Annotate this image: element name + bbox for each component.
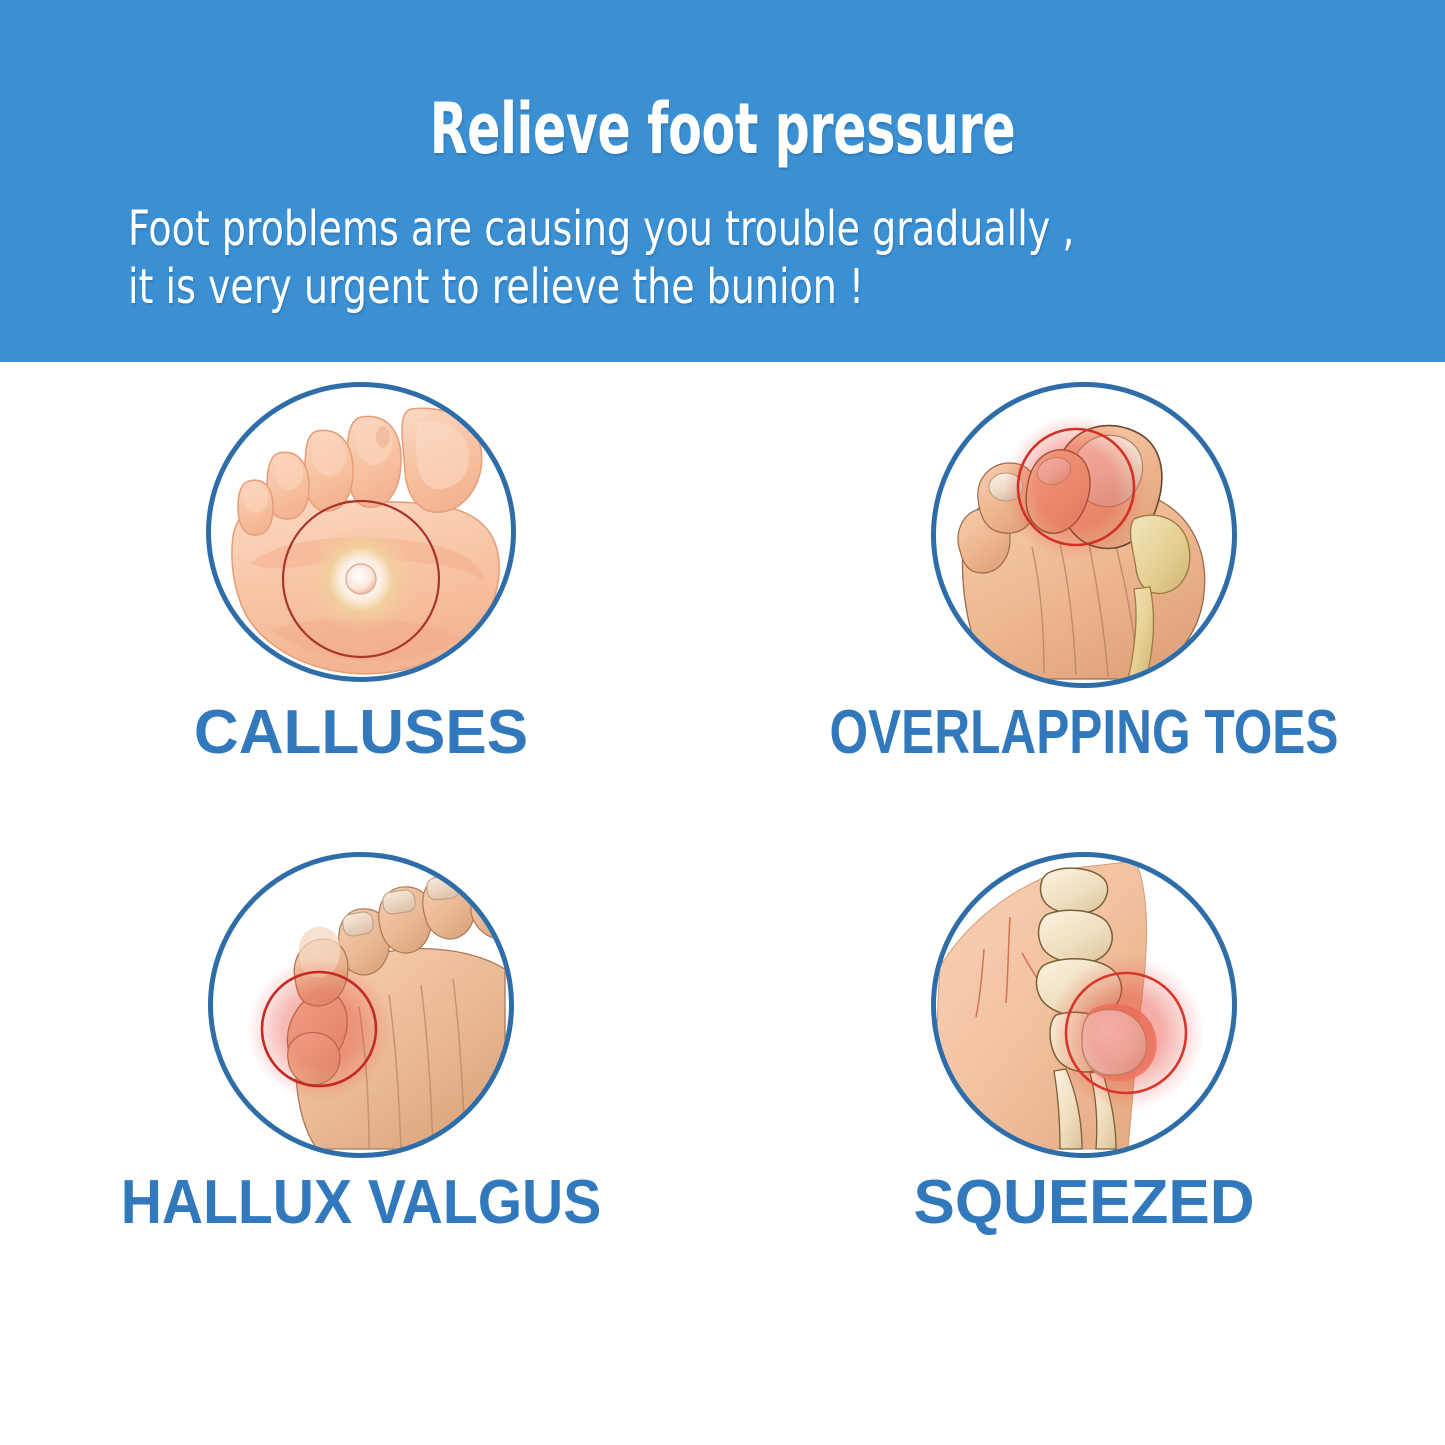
condition-label-squeezed: SQUEEZED [723, 1170, 1445, 1236]
condition-card-squeezed: SQUEEZED [723, 852, 1445, 1307]
condition-image-frame [206, 382, 516, 682]
foot-sole-callus-icon [211, 387, 511, 677]
condition-image-frame [931, 852, 1237, 1158]
condition-label-overlapping-toes: OVERLAPPING TOES [795, 700, 1373, 766]
condition-card-calluses: CALLUSES [0, 382, 722, 837]
overlapping-toes-icon [936, 387, 1232, 683]
condition-image-frame [931, 382, 1237, 688]
hallux-valgus-icon [213, 857, 509, 1153]
condition-image-frame [208, 852, 514, 1158]
subtitle-line-1: Foot problems are causing you trouble gr… [128, 200, 1210, 258]
squeezed-joint-bone-icon [936, 857, 1232, 1153]
subtitle-line-2: it is very urgent to relieve the bunion … [128, 258, 1210, 316]
condition-label-hallux-valgus: HALLUX VALGUS [29, 1170, 693, 1236]
condition-label-calluses: CALLUSES [0, 700, 722, 766]
page-subtitle: Foot problems are causing you trouble gr… [128, 200, 1210, 316]
header-banner: Relieve foot pressure Foot problems are … [0, 0, 1445, 362]
conditions-grid: CALLUSES [0, 362, 1445, 1445]
condition-card-overlapping-toes: OVERLAPPING TOES [723, 382, 1445, 837]
condition-card-hallux-valgus: HALLUX VALGUS [0, 852, 722, 1307]
page-title: Relieve foot pressure [159, 92, 1286, 166]
